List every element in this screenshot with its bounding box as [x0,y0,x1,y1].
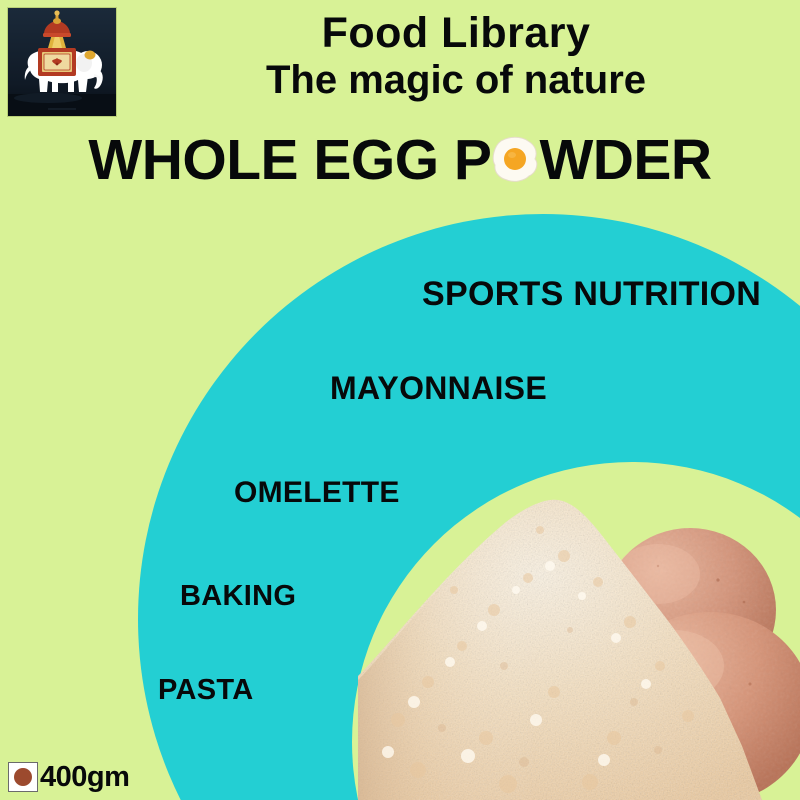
egg-powder-product-photo [358,470,800,800]
weight-text: 400gm [40,763,129,792]
ceremonial-elephant-logo [8,8,116,116]
fried-egg-icon [489,133,541,185]
use-label-mayonnaise: MAYONNAISE [330,370,547,407]
product-title-part-2: WDER [539,132,711,189]
brand-logo [8,8,116,116]
use-label-pasta: PASTA [158,674,253,707]
brand-name: Food Library [120,4,792,56]
use-label-baking: BAKING [180,580,296,613]
product-poster: Food Library The magic of nature WHOLE E… [0,0,800,800]
use-label-sports-nutrition: SPORTS NUTRITION [422,275,761,314]
non-vegetarian-dot [14,768,32,786]
weight-badge: 400gm [8,762,129,792]
non-vegetarian-mark-icon [8,762,38,792]
use-label-omelette: OMELETTE [234,476,400,510]
product-title: WHOLE EGG P WDER [0,132,800,189]
brand-tagline: The magic of nature [120,56,792,102]
product-title-part-1: WHOLE EGG P [88,132,491,189]
brand-header: Food Library The magic of nature [120,4,792,102]
